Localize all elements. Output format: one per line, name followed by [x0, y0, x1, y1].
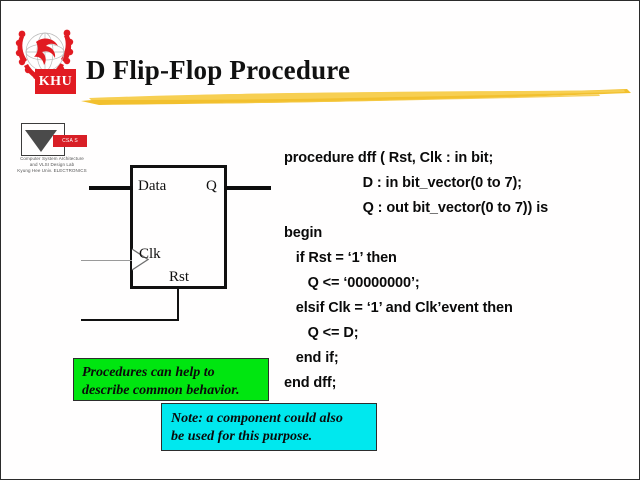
- code-line: Q : out bit_vector(0 to 7)) is: [284, 196, 636, 221]
- callout-green-line-1: Procedures can help to: [82, 364, 261, 382]
- lab-logo-caption: Computer System Architecture and VLSI De…: [13, 156, 91, 174]
- page-title: D Flip-Flop Procedure: [86, 55, 350, 86]
- vhdl-code-listing: procedure dff ( Rst, Clk : in bit; D : i…: [284, 146, 636, 396]
- callout-green-line-2: describe common behavior.: [82, 382, 261, 400]
- diagram-label-data: Data: [138, 178, 166, 195]
- q-output-wire: [224, 186, 271, 190]
- lab-logo-badge: CSA S ASTeam: [53, 135, 87, 147]
- diagram-label-clk: Clk: [139, 246, 161, 263]
- slide-canvas: KHU D Flip-Flop Procedure CSA S ASTeam C…: [0, 0, 640, 480]
- code-line: end if;: [284, 346, 636, 371]
- khu-badge-text: KHU: [35, 69, 76, 94]
- title-brush-underline-decoration: [79, 87, 631, 107]
- code-line: begin: [284, 221, 636, 246]
- code-line: D : in bit_vector(0 to 7);: [284, 171, 636, 196]
- d-flip-flop-diagram: Data Q Clk Rst: [81, 156, 271, 336]
- diagram-label-q: Q: [206, 178, 217, 195]
- rst-wire-vertical: [177, 287, 179, 321]
- code-line: elsif Clk = ‘1’ and Clk’event then: [284, 296, 636, 321]
- callout-cyan-line-1: Note: a component could also: [171, 410, 369, 428]
- diagram-label-rst: Rst: [169, 269, 189, 286]
- callout-cyan-line-2: be used for this purpose.: [171, 428, 369, 446]
- code-line: Q <= ‘00000000’;: [284, 271, 636, 296]
- clk-input-wire: [81, 260, 133, 261]
- lab-caption-line-3: Kyung Hee Univ. ELECTRONICS: [13, 168, 91, 174]
- code-line: if Rst = ‘1’ then: [284, 246, 636, 271]
- rst-wire-horizontal: [81, 319, 179, 321]
- callout-box-cyan: Note: a component could also be used for…: [161, 403, 377, 451]
- khu-university-logo: KHU: [14, 28, 76, 94]
- data-input-wire: [89, 186, 133, 190]
- code-line: end dff;: [284, 371, 636, 396]
- lab-watermark-logo: CSA S ASTeam Computer System Architectur…: [13, 123, 91, 181]
- code-line: Q <= D;: [284, 321, 636, 346]
- code-line: procedure dff ( Rst, Clk : in bit;: [284, 146, 636, 171]
- callout-box-green: Procedures can help to describe common b…: [73, 358, 269, 401]
